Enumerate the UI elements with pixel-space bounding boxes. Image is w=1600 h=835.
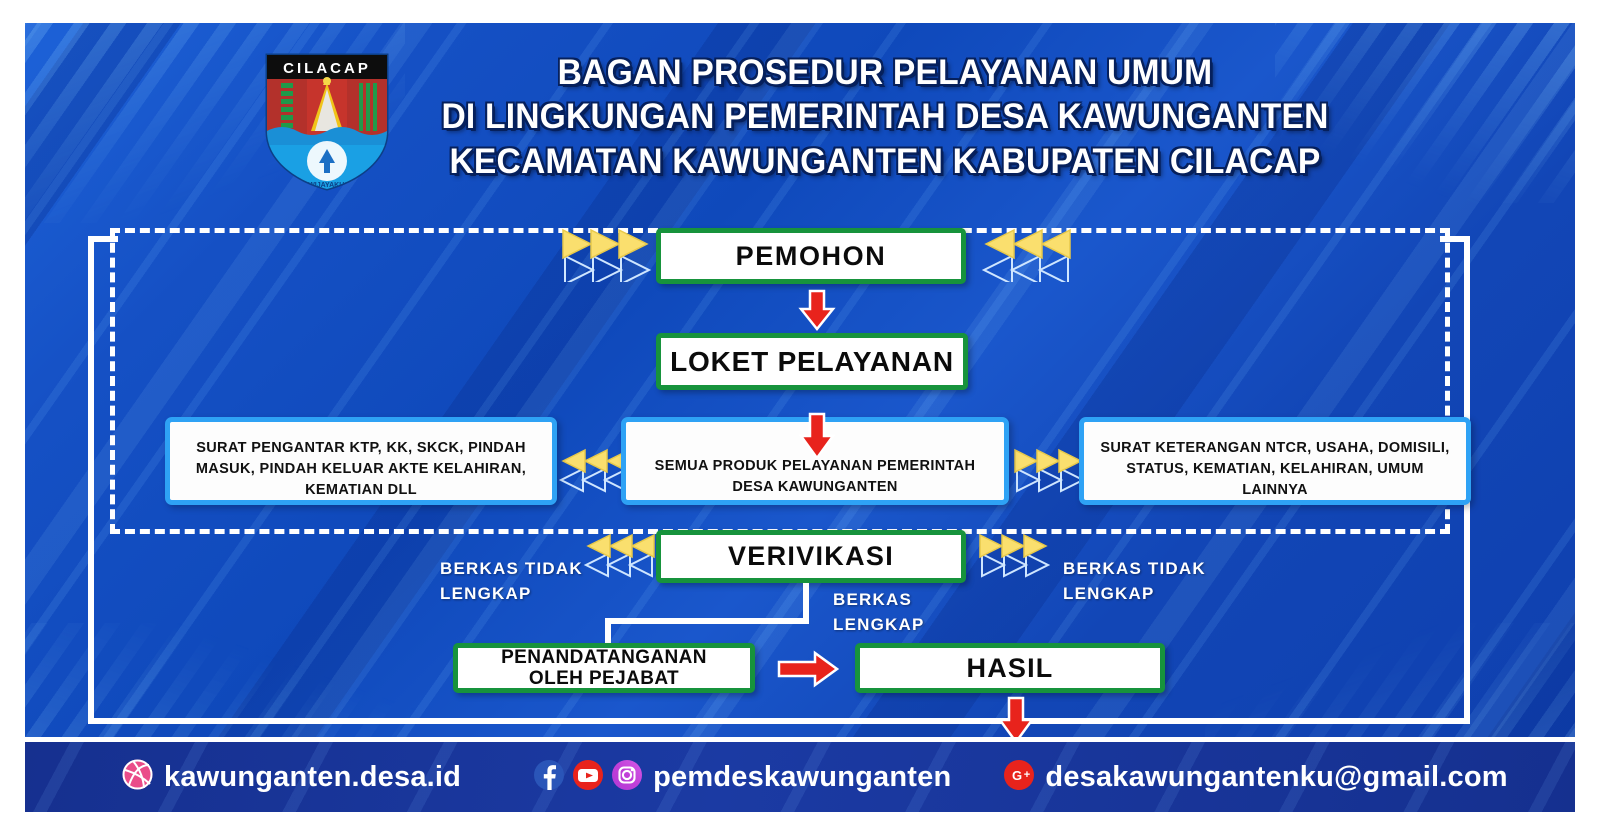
flow-box-verivikasi-label: VERIVIKASI [728, 541, 894, 571]
footer-website-text: kawunganten.desa.id [164, 761, 461, 794]
page-title: BAGAN PROSEDUR PELAYANAN UMUM DI LINGKUN… [405, 51, 1365, 184]
poster-canvas: JAYA WIJAYAKUSUMA CILACAP BAGAN PROSEDUR… [25, 23, 1575, 812]
instagram-icon[interactable] [611, 759, 643, 796]
yellow-arrows-pemohon-to-right [978, 226, 1074, 287]
footer-email-text: desakawungantenku@gmail.com [1045, 761, 1507, 794]
title-line-3: KECAMATAN KAWUNGANTEN KABUPATEN CILACAP [424, 140, 1346, 184]
flow-box-loket-label: LOKET PELAYANAN [670, 346, 954, 377]
svg-text:JAYA WIJAYAKUSUMA: JAYA WIJAYAKUSUMA [289, 182, 365, 189]
yellow-arrows-verivikasi-to-right [978, 532, 1050, 585]
info-box-left-text: SURAT PENGANTAR KTP, KK, SKCK, PINDAH MA… [170, 438, 552, 501]
footer-website-group[interactable]: kawunganten.desa.id [121, 758, 461, 796]
flow-box-hasil[interactable]: HASIL [855, 643, 1165, 693]
emblem-label: CILACAP [283, 60, 371, 77]
poster-root: JAYA WIJAYAKUSUMA CILACAP BAGAN PROSEDUR… [0, 0, 1600, 835]
solid-frame-top-left-stub [88, 236, 118, 242]
facebook-icon[interactable] [533, 759, 565, 796]
red-arrow-penandatanganan-to-hasil [777, 649, 839, 694]
note-berkas-tidak-lengkap-right: BERKAS TIDAK LENGKAP [1063, 557, 1253, 606]
title-line-1: BAGAN PROSEDUR PELAYANAN UMUM [424, 51, 1346, 95]
title-line-2: DI LINGKUNGAN PEMERINTAH DESA KAWUNGANTE… [424, 95, 1346, 139]
connector-verivikasi-to-penandatanganan [603, 583, 811, 645]
flow-box-pemohon[interactable]: PEMOHON [656, 228, 966, 284]
info-box-left: SURAT PENGANTAR KTP, KK, SKCK, PINDAH MA… [165, 417, 557, 505]
flow-box-penandatanganan-label: PENANDATANGANAN OLEH PEJABAT [501, 647, 707, 690]
youtube-icon[interactable] [572, 759, 604, 796]
yellow-arrows-left-to-pemohon [559, 226, 655, 287]
footer-social-handle: pemdeskawunganten [653, 761, 951, 794]
red-arrow-pemohon-to-loket [798, 289, 836, 336]
note-berkas-tidak-lengkap-left: BERKAS TIDAK LENGKAP [440, 557, 630, 606]
info-box-right: SURAT KETERANGAN NTCR, USAHA, DOMISILI, … [1079, 417, 1471, 505]
cilacap-emblem-icon: JAYA WIJAYAKUSUMA CILACAP [253, 45, 401, 195]
flow-box-hasil-label: HASIL [967, 653, 1054, 683]
flow-box-verivikasi[interactable]: VERIVIKASI [656, 530, 966, 583]
footer-bar: kawunganten.desa.id [25, 742, 1575, 812]
dribbble-icon [121, 758, 154, 796]
info-box-right-text: SURAT KETERANGAN NTCR, USAHA, DOMISILI, … [1084, 438, 1466, 501]
svg-text:G: G [1012, 768, 1022, 783]
footer-social-group[interactable]: pemdeskawunganten [533, 759, 951, 796]
red-arrow-loket-to-center-info [798, 412, 836, 465]
yellow-arrows-center-to-right-info [1013, 447, 1085, 500]
footer-email-group[interactable]: G + desakawungantenku@gmail.com [1003, 759, 1507, 796]
flow-box-penandatanganan[interactable]: PENANDATANGANAN OLEH PEJABAT [453, 643, 755, 693]
solid-frame-top-right-stub [1440, 236, 1470, 242]
svg-text:+: + [1024, 769, 1030, 781]
note-berkas-lengkap: BERKAS LENGKAP [833, 588, 983, 637]
google-plus-icon: G + [1003, 759, 1035, 796]
flow-box-pemohon-label: PEMOHON [736, 241, 887, 271]
flow-box-loket-pelayanan[interactable]: LOKET PELAYANAN [656, 333, 968, 390]
